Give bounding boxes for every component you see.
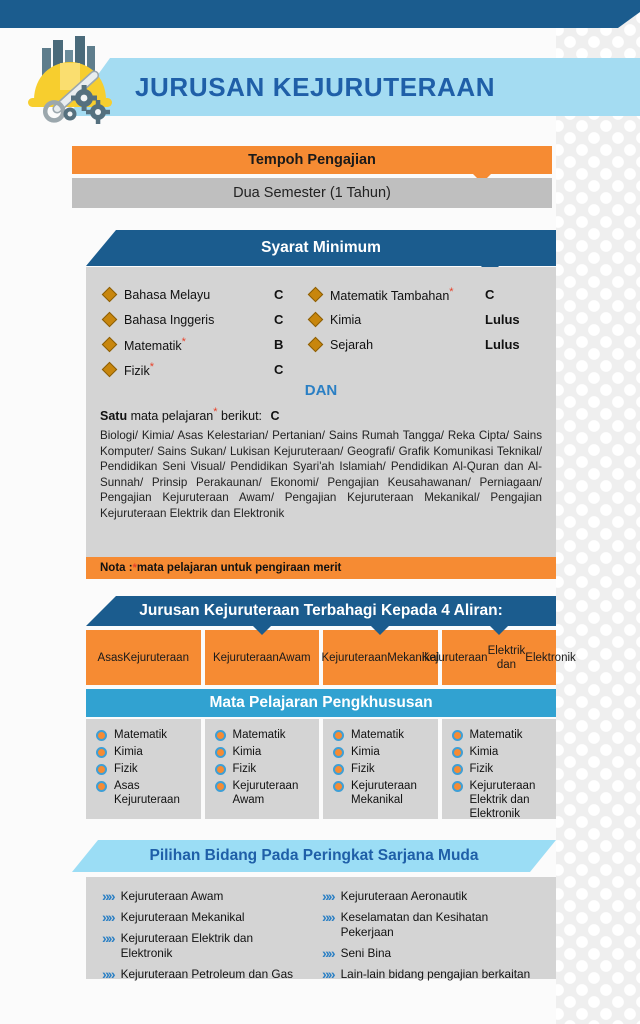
specialization-label: Kimia xyxy=(351,745,380,759)
circle-bullet-icon xyxy=(452,730,463,741)
stream-arrow-icon xyxy=(253,626,271,635)
circle-bullet-icon xyxy=(215,781,226,792)
specialization-box: MatematikKimiaFizikKejuruteraan Awam xyxy=(205,719,320,819)
requirement-grade: Lulus xyxy=(485,312,520,327)
requirement-row: Bahasa MelayuC xyxy=(104,282,283,307)
one-subject-grade: C xyxy=(271,409,280,423)
specialization-item: Kimia xyxy=(333,745,438,759)
circle-bullet-icon xyxy=(96,747,107,758)
field-item: »»Kejuruteraan Awam xyxy=(102,889,307,904)
requirement-grade: C xyxy=(274,362,283,377)
note-text: mata pelajaran untuk pengiraan merit xyxy=(137,562,342,574)
circle-bullet-icon xyxy=(96,764,107,775)
specialization-item: Fizik xyxy=(333,762,438,776)
specialization-label: Asas Kejuruteraan xyxy=(114,779,201,807)
one-subject-rest: mata pelajaran xyxy=(127,409,213,423)
double-chevron-icon: »» xyxy=(322,946,334,961)
one-subject-tail: berikut: xyxy=(218,409,262,423)
specialization-label: Matematik xyxy=(114,728,167,742)
requirement-subject: Bahasa Inggeris xyxy=(124,313,274,327)
requirement-subject: Matematik* xyxy=(124,336,274,353)
circle-bullet-icon xyxy=(333,747,344,758)
requirements-heading: Syarat Minimum xyxy=(86,230,556,266)
fields-left-column: »»Kejuruteraan Awam»»Kejuruteraan Mekani… xyxy=(102,889,307,988)
note-prefix: Nota : xyxy=(100,562,133,574)
specialization-heading: Mata Pelajaran Pengkhususan xyxy=(86,689,556,717)
specialization-item: Kimia xyxy=(96,745,201,759)
requirement-grade: C xyxy=(274,287,283,302)
stream-arrow-icon xyxy=(490,626,508,635)
infographic-page: JURUSAN KEJURUTERAAN xyxy=(0,0,640,1024)
specialization-item: Fizik xyxy=(452,762,557,776)
field-label: Kejuruteraan Aeronautik xyxy=(341,889,468,904)
double-chevron-icon: »» xyxy=(322,967,334,982)
specialization-label: Fizik xyxy=(470,762,494,776)
field-label: Lain-lain bidang pengajian berkaitan xyxy=(341,967,531,982)
double-chevron-icon: »» xyxy=(102,910,114,925)
asterisk-icon: * xyxy=(150,361,154,373)
circle-bullet-icon xyxy=(96,781,107,792)
field-label: Kejuruteraan Petroleum dan Gas xyxy=(121,967,293,982)
double-chevron-icon: »» xyxy=(102,967,114,982)
circle-bullet-icon xyxy=(333,781,344,792)
diamond-bullet-icon xyxy=(102,312,118,328)
requirement-subject: Fizik* xyxy=(124,361,274,378)
field-item: »»Kejuruteraan Aeronautik xyxy=(322,889,542,904)
field-item: »»Seni Bina xyxy=(322,946,542,961)
specialization-box: MatematikKimiaFizikAsas Kejuruteraan xyxy=(86,719,201,819)
specialization-label: Matematik xyxy=(233,728,286,742)
field-item: »»Kejuruteraan Elektrik dan Elektronik xyxy=(102,931,307,961)
specialization-label: Fizik xyxy=(114,762,138,776)
specialization-item: Matematik xyxy=(452,728,557,742)
note-bar: Nota : *mata pelajaran untuk pengiraan m… xyxy=(86,557,556,579)
field-label: Kejuruteraan Elektrik dan Elektronik xyxy=(121,931,307,961)
specialization-item: Asas Kejuruteraan xyxy=(96,779,201,807)
field-item: »»Lain-lain bidang pengajian berkaitan xyxy=(322,967,542,982)
circle-bullet-icon xyxy=(452,764,463,775)
circle-bullet-icon xyxy=(333,730,344,741)
fields-right-column: »»Kejuruteraan Aeronautik»»Keselamatan d… xyxy=(322,889,542,988)
asterisk-icon: * xyxy=(449,286,453,298)
diamond-bullet-icon xyxy=(308,287,324,303)
page-title: JURUSAN KEJURUTERAAN xyxy=(135,72,495,103)
specialization-label: Matematik xyxy=(351,728,404,742)
circle-bullet-icon xyxy=(452,747,463,758)
diamond-bullet-icon xyxy=(102,337,118,353)
specialization-label: Kejuruteraan Awam xyxy=(233,779,320,807)
double-chevron-icon: »» xyxy=(322,889,334,904)
stream-box: KejuruteraanElektrik danElektronik xyxy=(442,630,557,685)
requirement-row: Bahasa InggerisC xyxy=(104,307,283,332)
specialization-label: Kimia xyxy=(470,745,499,759)
one-subject-bold: Satu xyxy=(100,409,127,423)
stream-box: KejuruteraanMekanikal xyxy=(323,630,438,685)
circle-bullet-icon xyxy=(333,764,344,775)
stream-box: KejuruteraanAwam xyxy=(205,630,320,685)
duration-value: Dua Semester (1 Tahun) xyxy=(72,178,552,208)
conjunction-label: DAN xyxy=(86,382,556,399)
fields-heading: Pilihan Bidang Pada Peringkat Sarjana Mu… xyxy=(72,840,556,872)
streams-heading: Jurusan Kejuruteraan Terbahagi Kepada 4 … xyxy=(86,596,556,626)
circle-bullet-icon xyxy=(452,781,463,792)
requirement-row: SejarahLulus xyxy=(310,332,520,357)
requirement-subject: Sejarah xyxy=(330,338,485,352)
field-item: »»Keselamatan dan Kesihatan Pekerjaan xyxy=(322,910,542,940)
one-subject-label: Satu mata pelajaran* berikut: C xyxy=(100,406,280,423)
requirements-right-column: Matematik Tambahan*CKimiaLulusSejarahLul… xyxy=(310,282,520,357)
specialization-item: Fizik xyxy=(96,762,201,776)
requirement-grade: Lulus xyxy=(485,337,520,352)
requirement-grade: B xyxy=(274,337,283,352)
circle-bullet-icon xyxy=(96,730,107,741)
diamond-bullet-icon xyxy=(102,287,118,303)
field-label: Keselamatan dan Kesihatan Pekerjaan xyxy=(341,910,542,940)
requirement-subject: Kimia xyxy=(330,313,485,327)
specialization-label: Kimia xyxy=(233,745,262,759)
specialization-label: Kejuruteraan Elektrik dan Elektronik xyxy=(470,779,557,821)
specialization-item: Matematik xyxy=(215,728,320,742)
requirement-subject: Matematik Tambahan* xyxy=(330,286,485,303)
circle-bullet-icon xyxy=(215,747,226,758)
specialization-label: Fizik xyxy=(233,762,257,776)
requirement-row: Matematik*B xyxy=(104,332,283,357)
subject-list: Biologi/ Kimia/ Asas Kelestarian/ Pertan… xyxy=(100,428,542,521)
specialization-label: Matematik xyxy=(470,728,523,742)
specialization-item: Kejuruteraan Mekanikal xyxy=(333,779,438,807)
field-label: Kejuruteraan Awam xyxy=(121,889,224,904)
specialization-item: Fizik xyxy=(215,762,320,776)
field-label: Kejuruteraan Mekanikal xyxy=(121,910,245,925)
requirement-row: Fizik*C xyxy=(104,357,283,382)
circle-bullet-icon xyxy=(215,730,226,741)
stream-box: AsasKejuruteraan xyxy=(86,630,201,685)
circle-bullet-icon xyxy=(215,764,226,775)
diamond-bullet-icon xyxy=(102,362,118,378)
double-chevron-icon: »» xyxy=(322,910,334,925)
requirement-row: Matematik Tambahan*C xyxy=(310,282,520,307)
requirement-grade: C xyxy=(274,312,283,327)
diamond-bullet-icon xyxy=(308,337,324,353)
specialization-box: MatematikKimiaFizikKejuruteraan Elektrik… xyxy=(442,719,557,819)
specialization-box: MatematikKimiaFizikKejuruteraan Mekanika… xyxy=(323,719,438,819)
specialization-label: Fizik xyxy=(351,762,375,776)
field-item: »»Kejuruteraan Petroleum dan Gas xyxy=(102,967,307,982)
double-chevron-icon: »» xyxy=(102,889,114,904)
diamond-bullet-icon xyxy=(308,312,324,328)
field-item: »»Kejuruteraan Mekanikal xyxy=(102,910,307,925)
requirements-left-column: Bahasa MelayuCBahasa InggerisCMatematik*… xyxy=(104,282,283,382)
specialization-label: Kejuruteraan Mekanikal xyxy=(351,779,438,807)
specialization-item: Matematik xyxy=(333,728,438,742)
asterisk-icon: * xyxy=(182,336,186,348)
requirement-grade: C xyxy=(485,287,494,302)
engineering-hardhat-gears-icon xyxy=(18,30,122,130)
specialization-item: Kejuruteraan Elektrik dan Elektronik xyxy=(452,779,557,821)
specialization-item: Matematik xyxy=(96,728,201,742)
specialization-label: Kimia xyxy=(114,745,143,759)
specialization-item: Kimia xyxy=(215,745,320,759)
requirement-subject: Bahasa Melayu xyxy=(124,288,274,302)
specialization-item: Kejuruteraan Awam xyxy=(215,779,320,807)
specialization-item: Kimia xyxy=(452,745,557,759)
double-chevron-icon: »» xyxy=(102,931,114,946)
top-accent-bar xyxy=(0,0,640,28)
requirement-row: KimiaLulus xyxy=(310,307,520,332)
field-label: Seni Bina xyxy=(341,946,392,961)
duration-heading: Tempoh Pengajian xyxy=(72,146,552,174)
stream-arrow-icon xyxy=(371,626,389,635)
